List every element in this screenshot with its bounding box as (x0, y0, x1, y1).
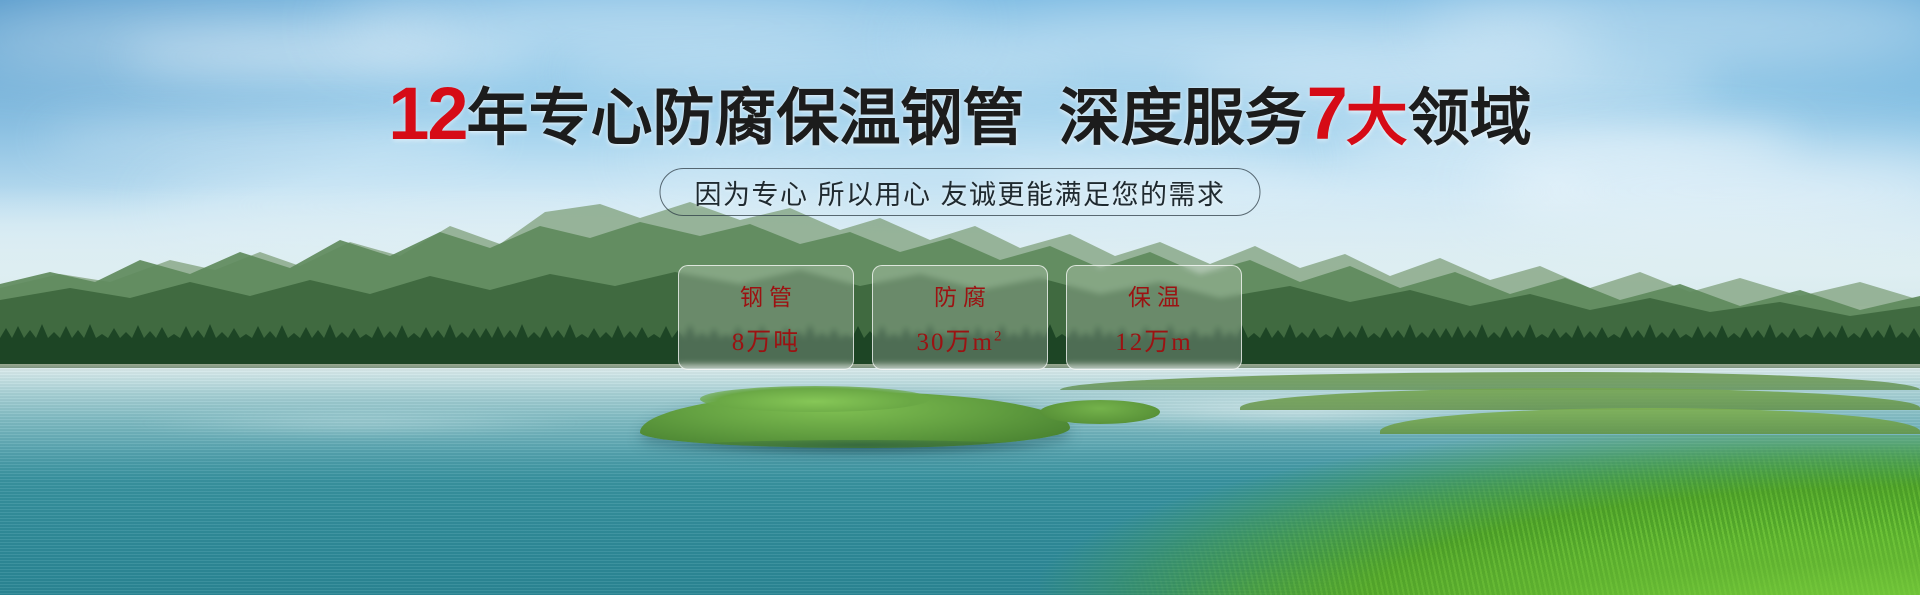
subtitle-text: 因为专心 所以用心 友诚更能满足您的需求 (694, 173, 1225, 212)
stat-card-title: 防腐 (928, 278, 992, 312)
grass-island-tuft (700, 386, 930, 412)
subtitle-pill: 因为专心 所以用心 友诚更能满足您的需求 (659, 168, 1260, 216)
headline-fields-unit: 大 (1346, 84, 1408, 153)
stat-card-title: 钢管 (734, 278, 798, 312)
stat-card-value-text: 8万吨 (732, 329, 801, 356)
foreground-grass-edge (840, 475, 1920, 595)
water-glint (120, 408, 600, 438)
headline-segment-3: 领域 (1408, 84, 1532, 153)
stat-card-group: 钢管 8万吨 防腐 30万m2 保温 12万m (678, 265, 1242, 370)
stat-card-steel-pipe[interactable]: 钢管 8万吨 (678, 265, 854, 370)
headline-segment-2: 深度服务 (1059, 84, 1307, 153)
stat-card-value: 8万吨 (732, 322, 801, 358)
grass-island-shadow (660, 440, 1060, 456)
stat-card-insulation[interactable]: 保温 12万m (1066, 265, 1242, 370)
stat-card-anticorrosion[interactable]: 防腐 30万m2 (872, 265, 1048, 370)
stat-card-value: 30万m2 (917, 322, 1004, 358)
promo-banner: 12年专心防腐保温钢管深度服务7大领域 因为专心 所以用心 友诚更能满足您的需求… (0, 0, 1920, 595)
grass-island-small (1040, 400, 1160, 424)
headline-years-number: 12 (388, 72, 466, 155)
stat-card-value-superscript: 2 (994, 328, 1004, 344)
headline-segment-1: 年专心防腐保温钢管 (467, 84, 1025, 153)
stat-card-title: 保温 (1122, 278, 1186, 312)
stat-card-value-text: 30万m (917, 329, 994, 356)
stat-card-value-text: 12万m (1115, 329, 1192, 356)
stat-card-value: 12万m (1115, 322, 1192, 358)
headline-fields-number: 7 (1307, 72, 1346, 155)
page-title: 12年专心防腐保温钢管深度服务7大领域 (0, 78, 1920, 155)
